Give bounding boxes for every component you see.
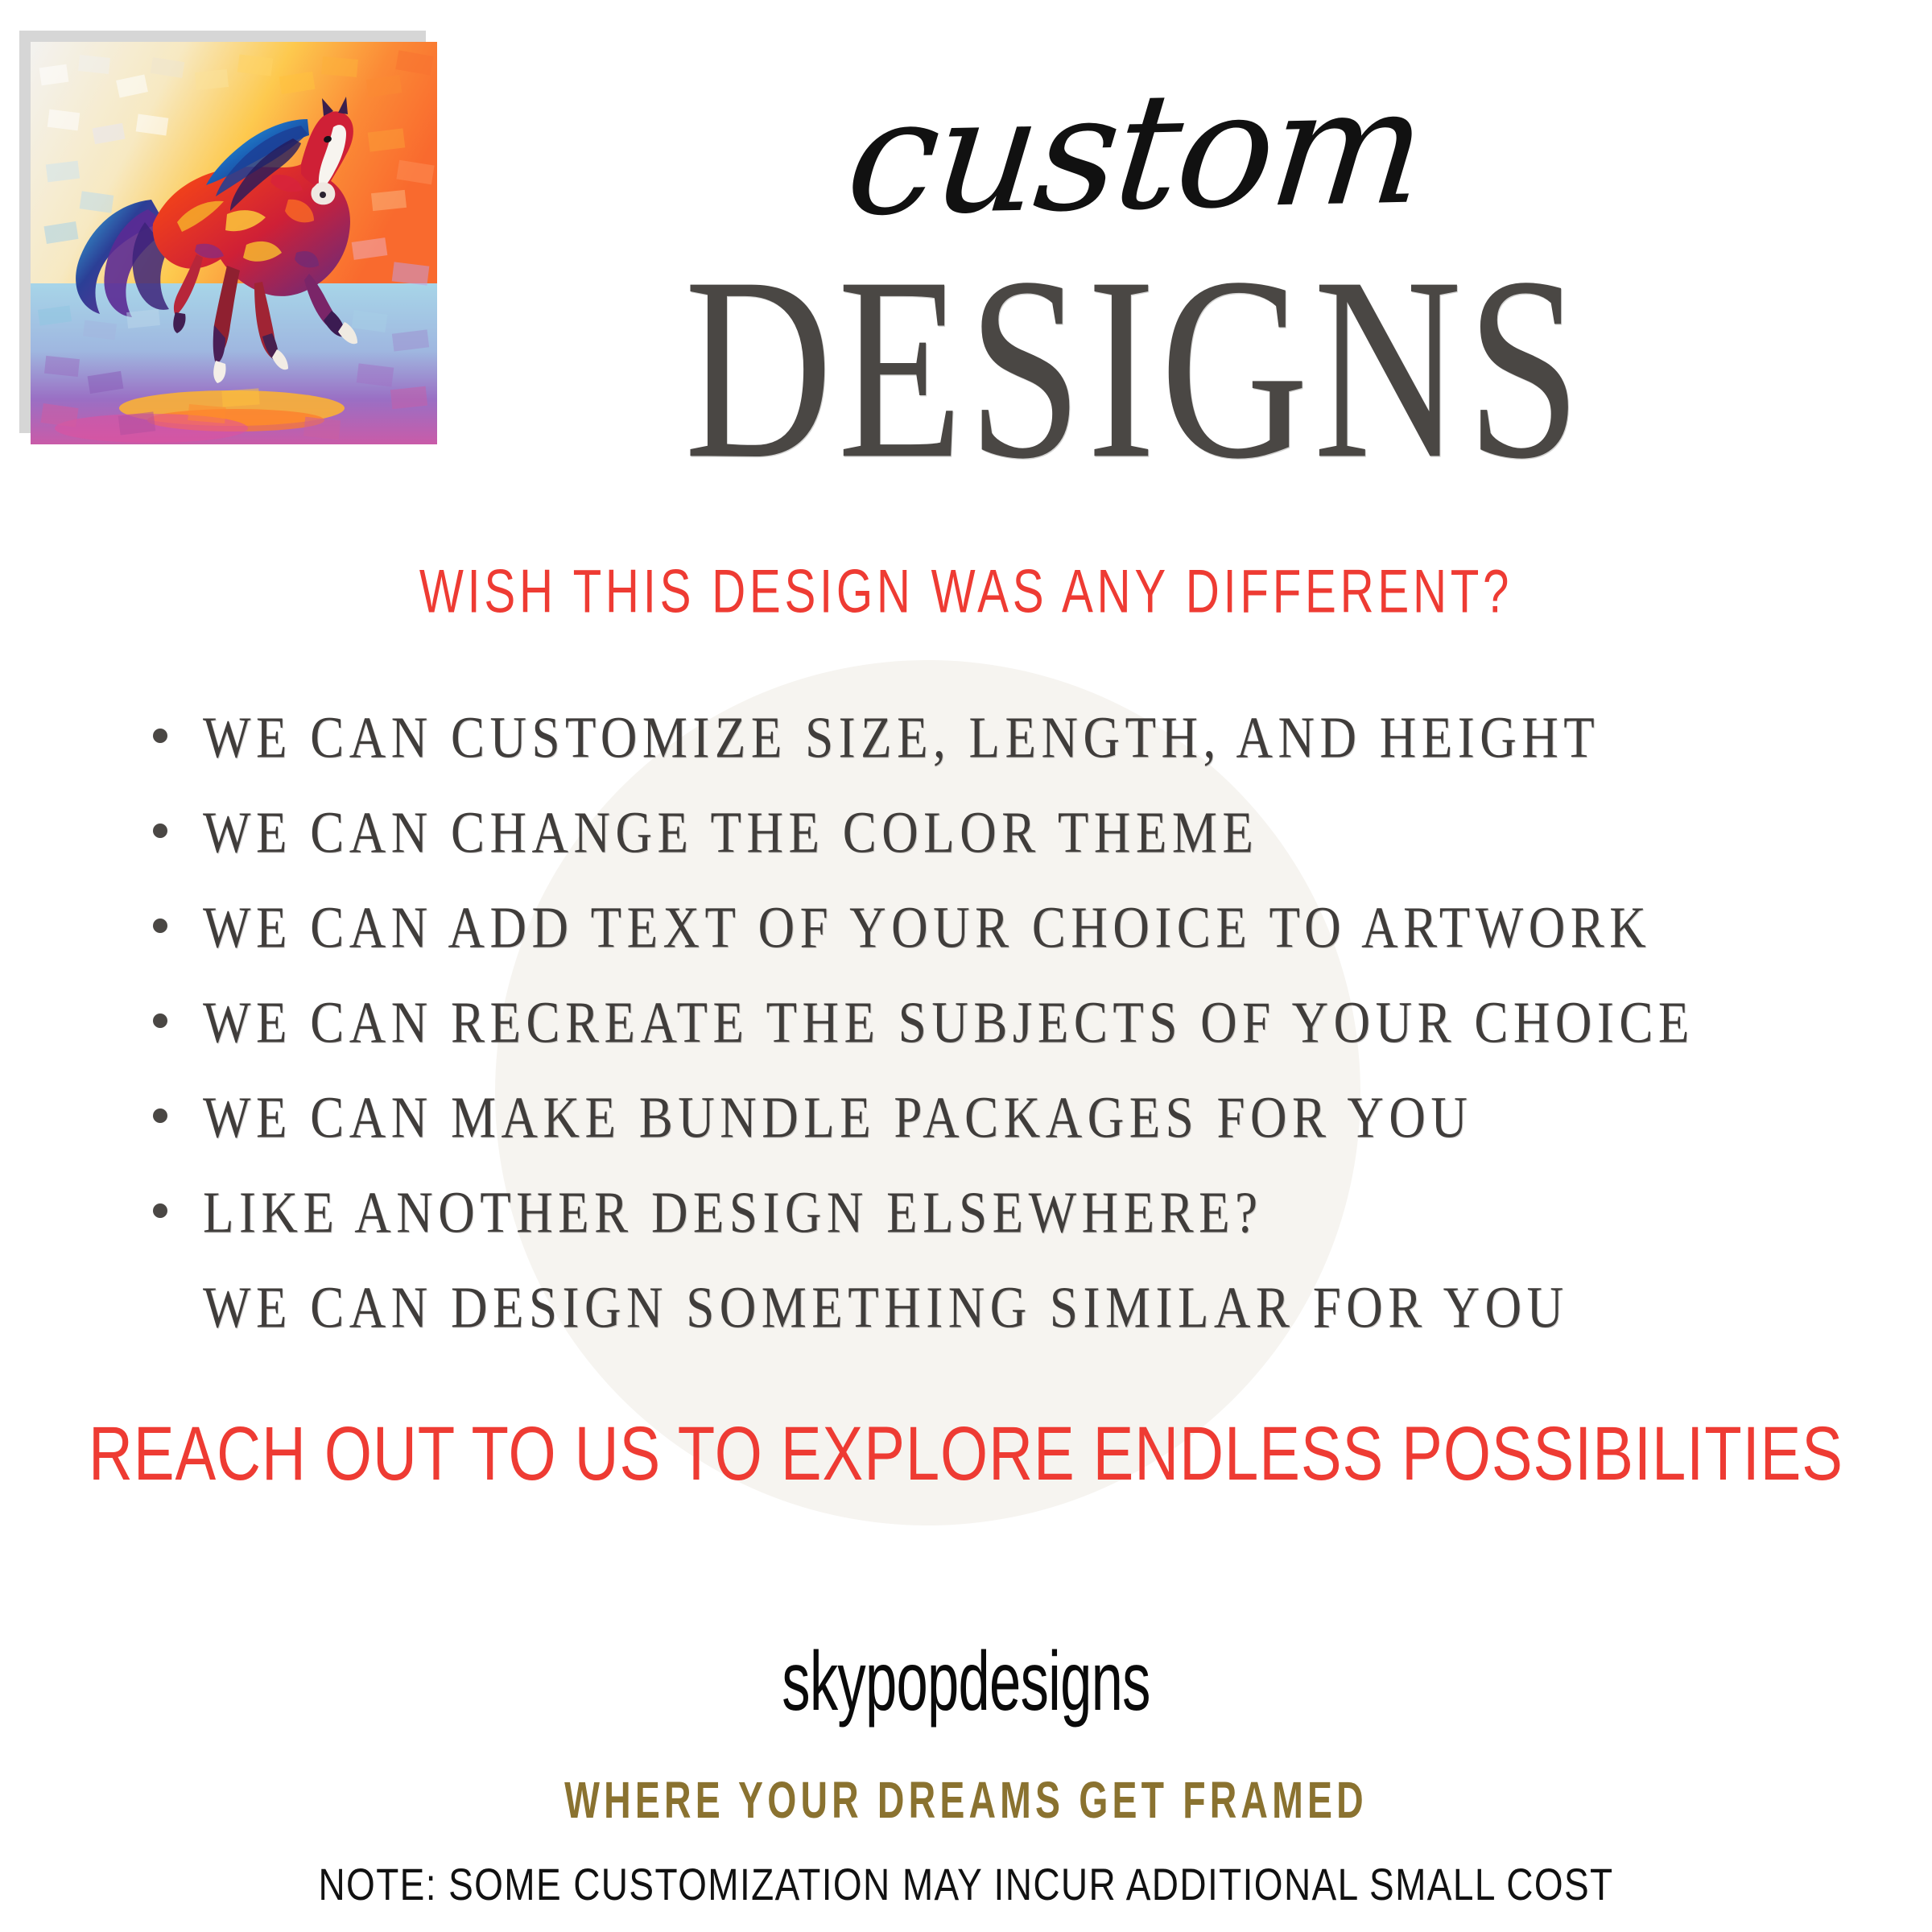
bullet-dot-icon	[153, 1203, 167, 1218]
header-block: custom DESIGNS	[451, 72, 1819, 440]
subtitle-question: WISH THIS DESIGN WAS ANY DIFFERENT?	[58, 557, 1874, 627]
list-item: WE CAN CHANGE THE COLOR THEME	[153, 803, 1860, 898]
list-item-label: WE CAN CHANGE THE COLOR THEME	[203, 799, 1258, 867]
list-item: WE CAN MAKE BUNDLE PACKAGES FOR YOU	[153, 1088, 1860, 1183]
list-item-label: LIKE ANOTHER DESIGN ELSEWHERE?	[203, 1179, 1263, 1247]
list-item: WE CAN RECREATE THE SUBJECTS OF YOUR CHO…	[153, 993, 1860, 1088]
brand-logo-wordmark: skypopdesigns	[270, 1633, 1662, 1730]
list-item-label: WE CAN MAKE BUNDLE PACKAGES FOR YOU	[203, 1084, 1472, 1152]
script-title-custom: custom	[441, 58, 1829, 248]
list-item-continuation: WE CAN DESIGN SOMETHING SIMILAR FOR YOU	[153, 1278, 1860, 1373]
list-item: LIKE ANOTHER DESIGN ELSEWHERE?	[153, 1183, 1860, 1278]
list-item-label: WE CAN CUSTOMIZE SIZE, LENGTH, AND HEIGH…	[203, 704, 1600, 772]
list-item-label: WE CAN ADD TEXT OF YOUR CHOICE TO ARTWOR…	[203, 894, 1651, 962]
page-title-designs: DESIGNS	[437, 238, 1833, 500]
bullet-dot-icon	[153, 1108, 167, 1123]
artwork-thumbnail	[31, 42, 437, 444]
bullet-dot-icon	[153, 824, 167, 838]
bullet-dot-icon	[153, 729, 167, 743]
list-item: WE CAN CUSTOMIZE SIZE, LENGTH, AND HEIGH…	[153, 708, 1860, 803]
brand-tagline: WHERE YOUR DREAMS GET FRAMED	[135, 1771, 1797, 1830]
list-item-label: WE CAN DESIGN SOMETHING SIMILAR FOR YOU	[203, 1274, 1569, 1342]
footer-note: NOTE: SOME CUSTOMIZATION MAY INCUR ADDIT…	[77, 1859, 1855, 1911]
call-to-action-text: REACH OUT TO US TO EXPLORE ENDLESS POSSI…	[48, 1410, 1884, 1498]
horse-painting-image	[31, 42, 437, 444]
feature-bullet-list: WE CAN CUSTOMIZE SIZE, LENGTH, AND HEIGH…	[153, 708, 1860, 1373]
bullet-dot-placeholder-icon	[153, 1298, 167, 1313]
list-item-label: WE CAN RECREATE THE SUBJECTS OF YOUR CHO…	[203, 989, 1695, 1057]
bullet-dot-icon	[153, 1013, 167, 1028]
bullet-dot-icon	[153, 919, 167, 933]
list-item: WE CAN ADD TEXT OF YOUR CHOICE TO ARTWOR…	[153, 898, 1860, 993]
